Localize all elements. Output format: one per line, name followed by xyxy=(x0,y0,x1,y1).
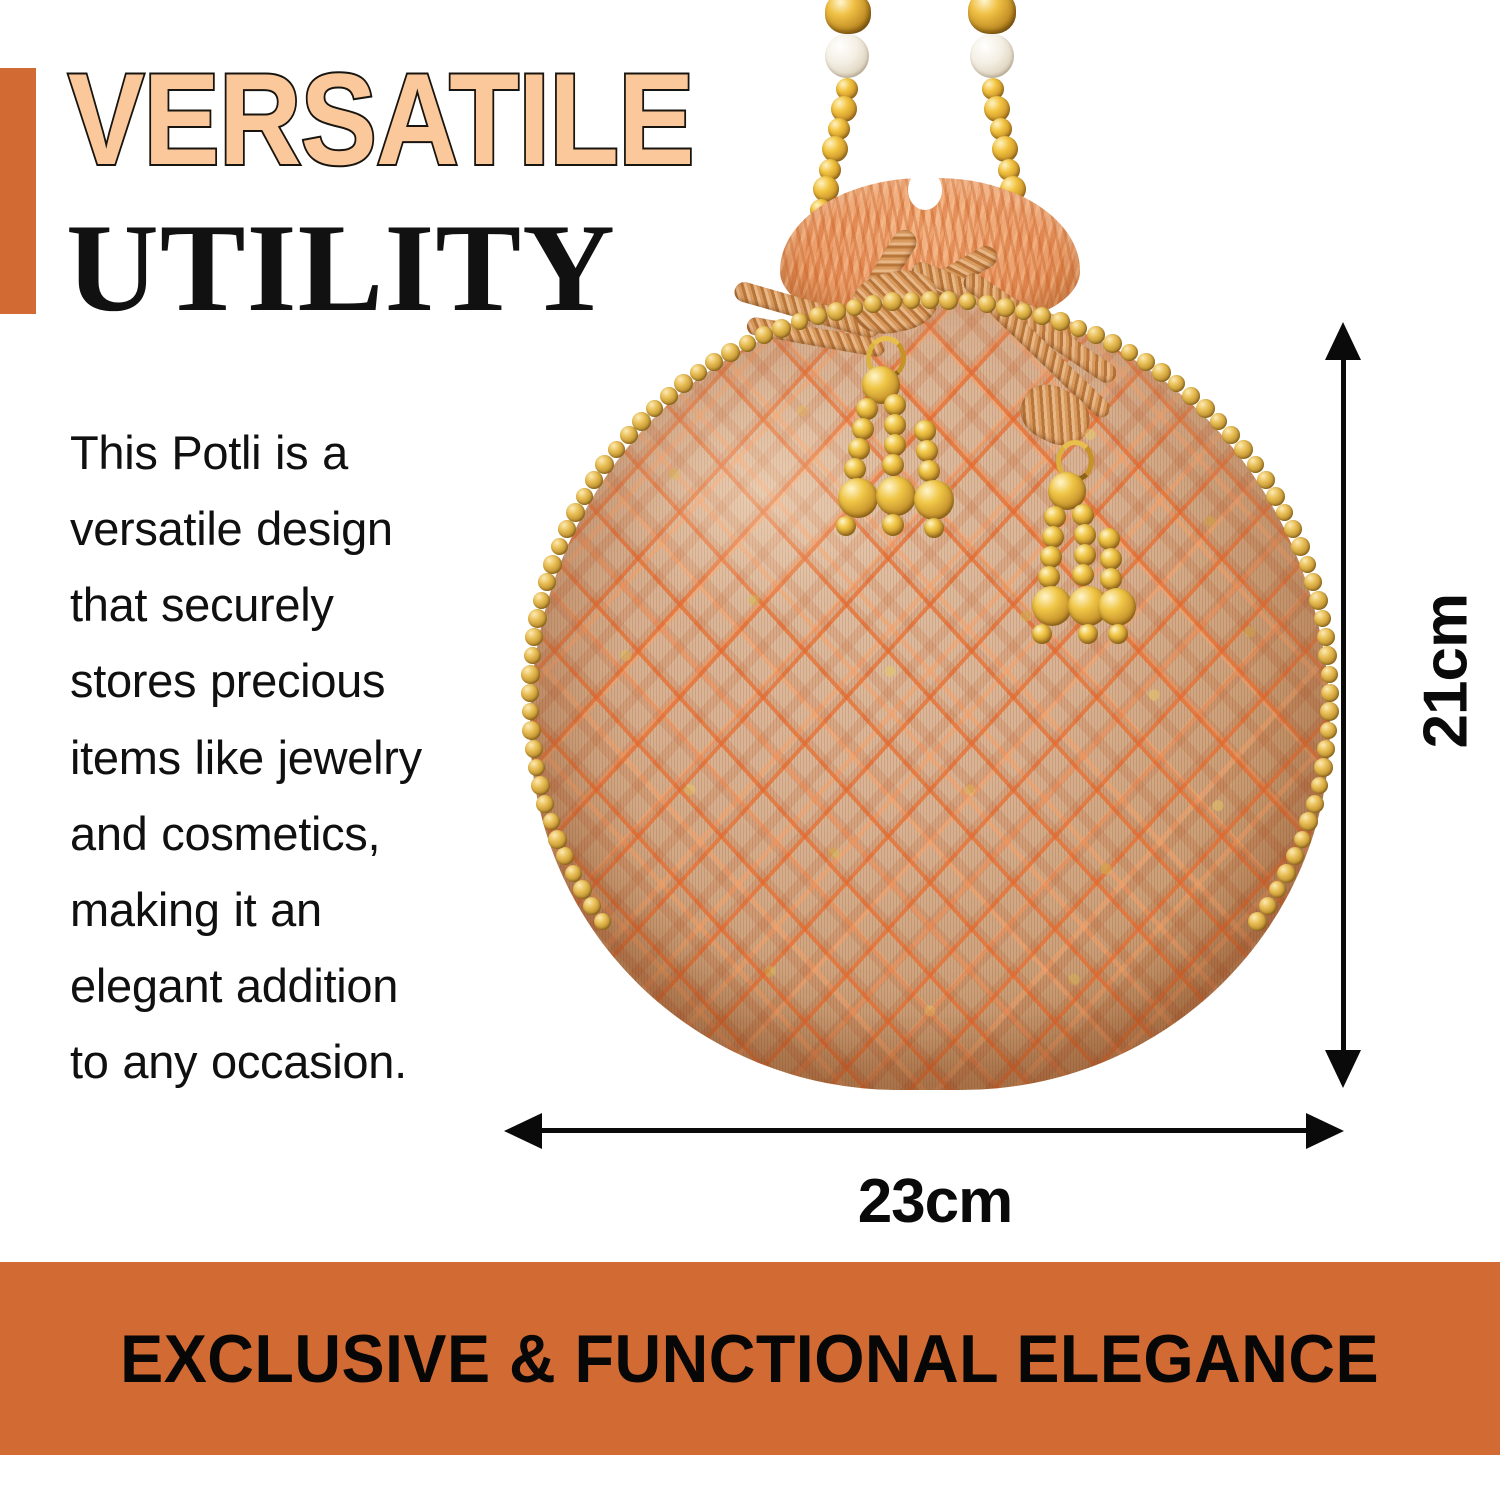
trim-bead xyxy=(522,703,539,720)
trim-bead xyxy=(608,441,625,458)
trim-bead xyxy=(1269,881,1286,898)
trim-bead xyxy=(525,628,543,646)
trim-bead xyxy=(1320,722,1337,739)
trim-bead xyxy=(1294,831,1311,848)
trim-bead xyxy=(1304,573,1322,591)
trim-bead xyxy=(1291,537,1310,556)
trim-bead xyxy=(594,913,611,930)
trim-bead xyxy=(1286,847,1304,865)
trim-bead xyxy=(1321,684,1339,702)
trim-bead xyxy=(595,455,614,474)
trim-bead xyxy=(1299,812,1318,831)
footer-banner: EXCLUSIVE & FUNCTIONAL ELEGANCE xyxy=(0,1262,1500,1455)
trim-bead xyxy=(846,299,863,316)
trim-bead xyxy=(533,592,550,609)
trim-bead xyxy=(1309,591,1328,610)
trim-bead xyxy=(566,503,585,522)
trim-bead xyxy=(551,538,568,555)
trim-bead xyxy=(543,813,560,830)
trim-bead xyxy=(1320,702,1339,721)
trim-bead xyxy=(772,319,791,338)
trim-bead xyxy=(583,897,601,915)
trim-bead xyxy=(1277,864,1296,883)
trim-bead xyxy=(1284,520,1302,538)
trim-bead xyxy=(522,721,541,740)
trim-bead xyxy=(1276,504,1293,521)
trim-bead xyxy=(921,291,939,309)
trim-bead xyxy=(528,609,547,628)
trim-bead xyxy=(809,307,827,325)
trim-bead xyxy=(674,374,693,393)
trim-bead xyxy=(538,573,556,591)
trim-bead xyxy=(531,776,550,795)
trim-bead xyxy=(939,291,958,310)
dimension-arrow-down-icon xyxy=(1325,1050,1361,1088)
trim-bead xyxy=(827,302,846,321)
trim-bead xyxy=(959,293,976,310)
trim-bead xyxy=(576,488,593,505)
trim-bead xyxy=(864,295,882,313)
trim-bead xyxy=(1087,326,1105,344)
trim-bead xyxy=(883,292,902,311)
trim-bead xyxy=(646,400,663,417)
trim-bead xyxy=(721,343,740,362)
trim-bead xyxy=(528,759,545,776)
trim-bead xyxy=(1299,556,1316,573)
orange-accent-bar xyxy=(0,68,36,314)
trim-bead xyxy=(1266,487,1285,506)
trim-bead xyxy=(739,335,756,352)
trim-bead xyxy=(1314,610,1331,627)
trim-bead xyxy=(524,647,541,664)
trim-bead xyxy=(565,865,582,882)
trim-bead xyxy=(1070,320,1087,337)
trim-bead xyxy=(1248,912,1267,931)
trim-bead xyxy=(1103,334,1122,353)
dimension-arrow-right-icon xyxy=(1306,1113,1344,1149)
trim-bead xyxy=(978,295,996,313)
trim-bead xyxy=(1318,646,1337,665)
trim-bead xyxy=(573,880,592,899)
trim-bead xyxy=(755,326,773,344)
footer-tagline: EXCLUSIVE & FUNCTIONAL ELEGANCE xyxy=(121,1320,1380,1398)
trim-bead xyxy=(690,364,707,381)
dimension-line-horizontal xyxy=(536,1128,1314,1133)
trim-bead xyxy=(536,795,554,813)
trim-bead xyxy=(548,830,567,849)
trim-bead xyxy=(1247,456,1264,473)
trim-bead xyxy=(585,471,603,489)
trim-bead xyxy=(1314,758,1333,777)
trim-bead xyxy=(1051,312,1070,331)
product-description-paragraph: This Potli is a versatile design that se… xyxy=(70,415,442,1100)
trim-bead xyxy=(525,740,543,758)
trim-bead xyxy=(1306,795,1324,813)
trim-bead xyxy=(1321,666,1338,683)
trim-bead xyxy=(521,665,540,684)
trim-bead xyxy=(556,847,574,865)
trim-bead xyxy=(1121,344,1138,361)
trim-bead xyxy=(543,555,562,574)
trim-bead xyxy=(1317,740,1335,758)
trim-bead xyxy=(1168,375,1185,392)
trim-bead xyxy=(791,313,808,330)
dimension-width-label: 23cm xyxy=(660,1166,1210,1237)
infographic-canvas: VERSATILE UTILITY This Potli is a versat… xyxy=(0,0,1500,1500)
trim-bead xyxy=(558,520,576,538)
trim-bead xyxy=(1015,303,1032,320)
trim-bead xyxy=(903,292,920,309)
bag-bead-trim xyxy=(500,0,1360,1100)
trim-bead xyxy=(1311,777,1328,794)
trim-bead xyxy=(996,298,1015,317)
dimension-line-vertical xyxy=(1341,352,1346,1060)
dimension-height-label: 21cm xyxy=(1411,599,1482,749)
trim-bead xyxy=(1317,628,1335,646)
trim-bead xyxy=(521,684,539,702)
product-photo xyxy=(500,0,1360,1100)
trim-bead xyxy=(1033,307,1051,325)
